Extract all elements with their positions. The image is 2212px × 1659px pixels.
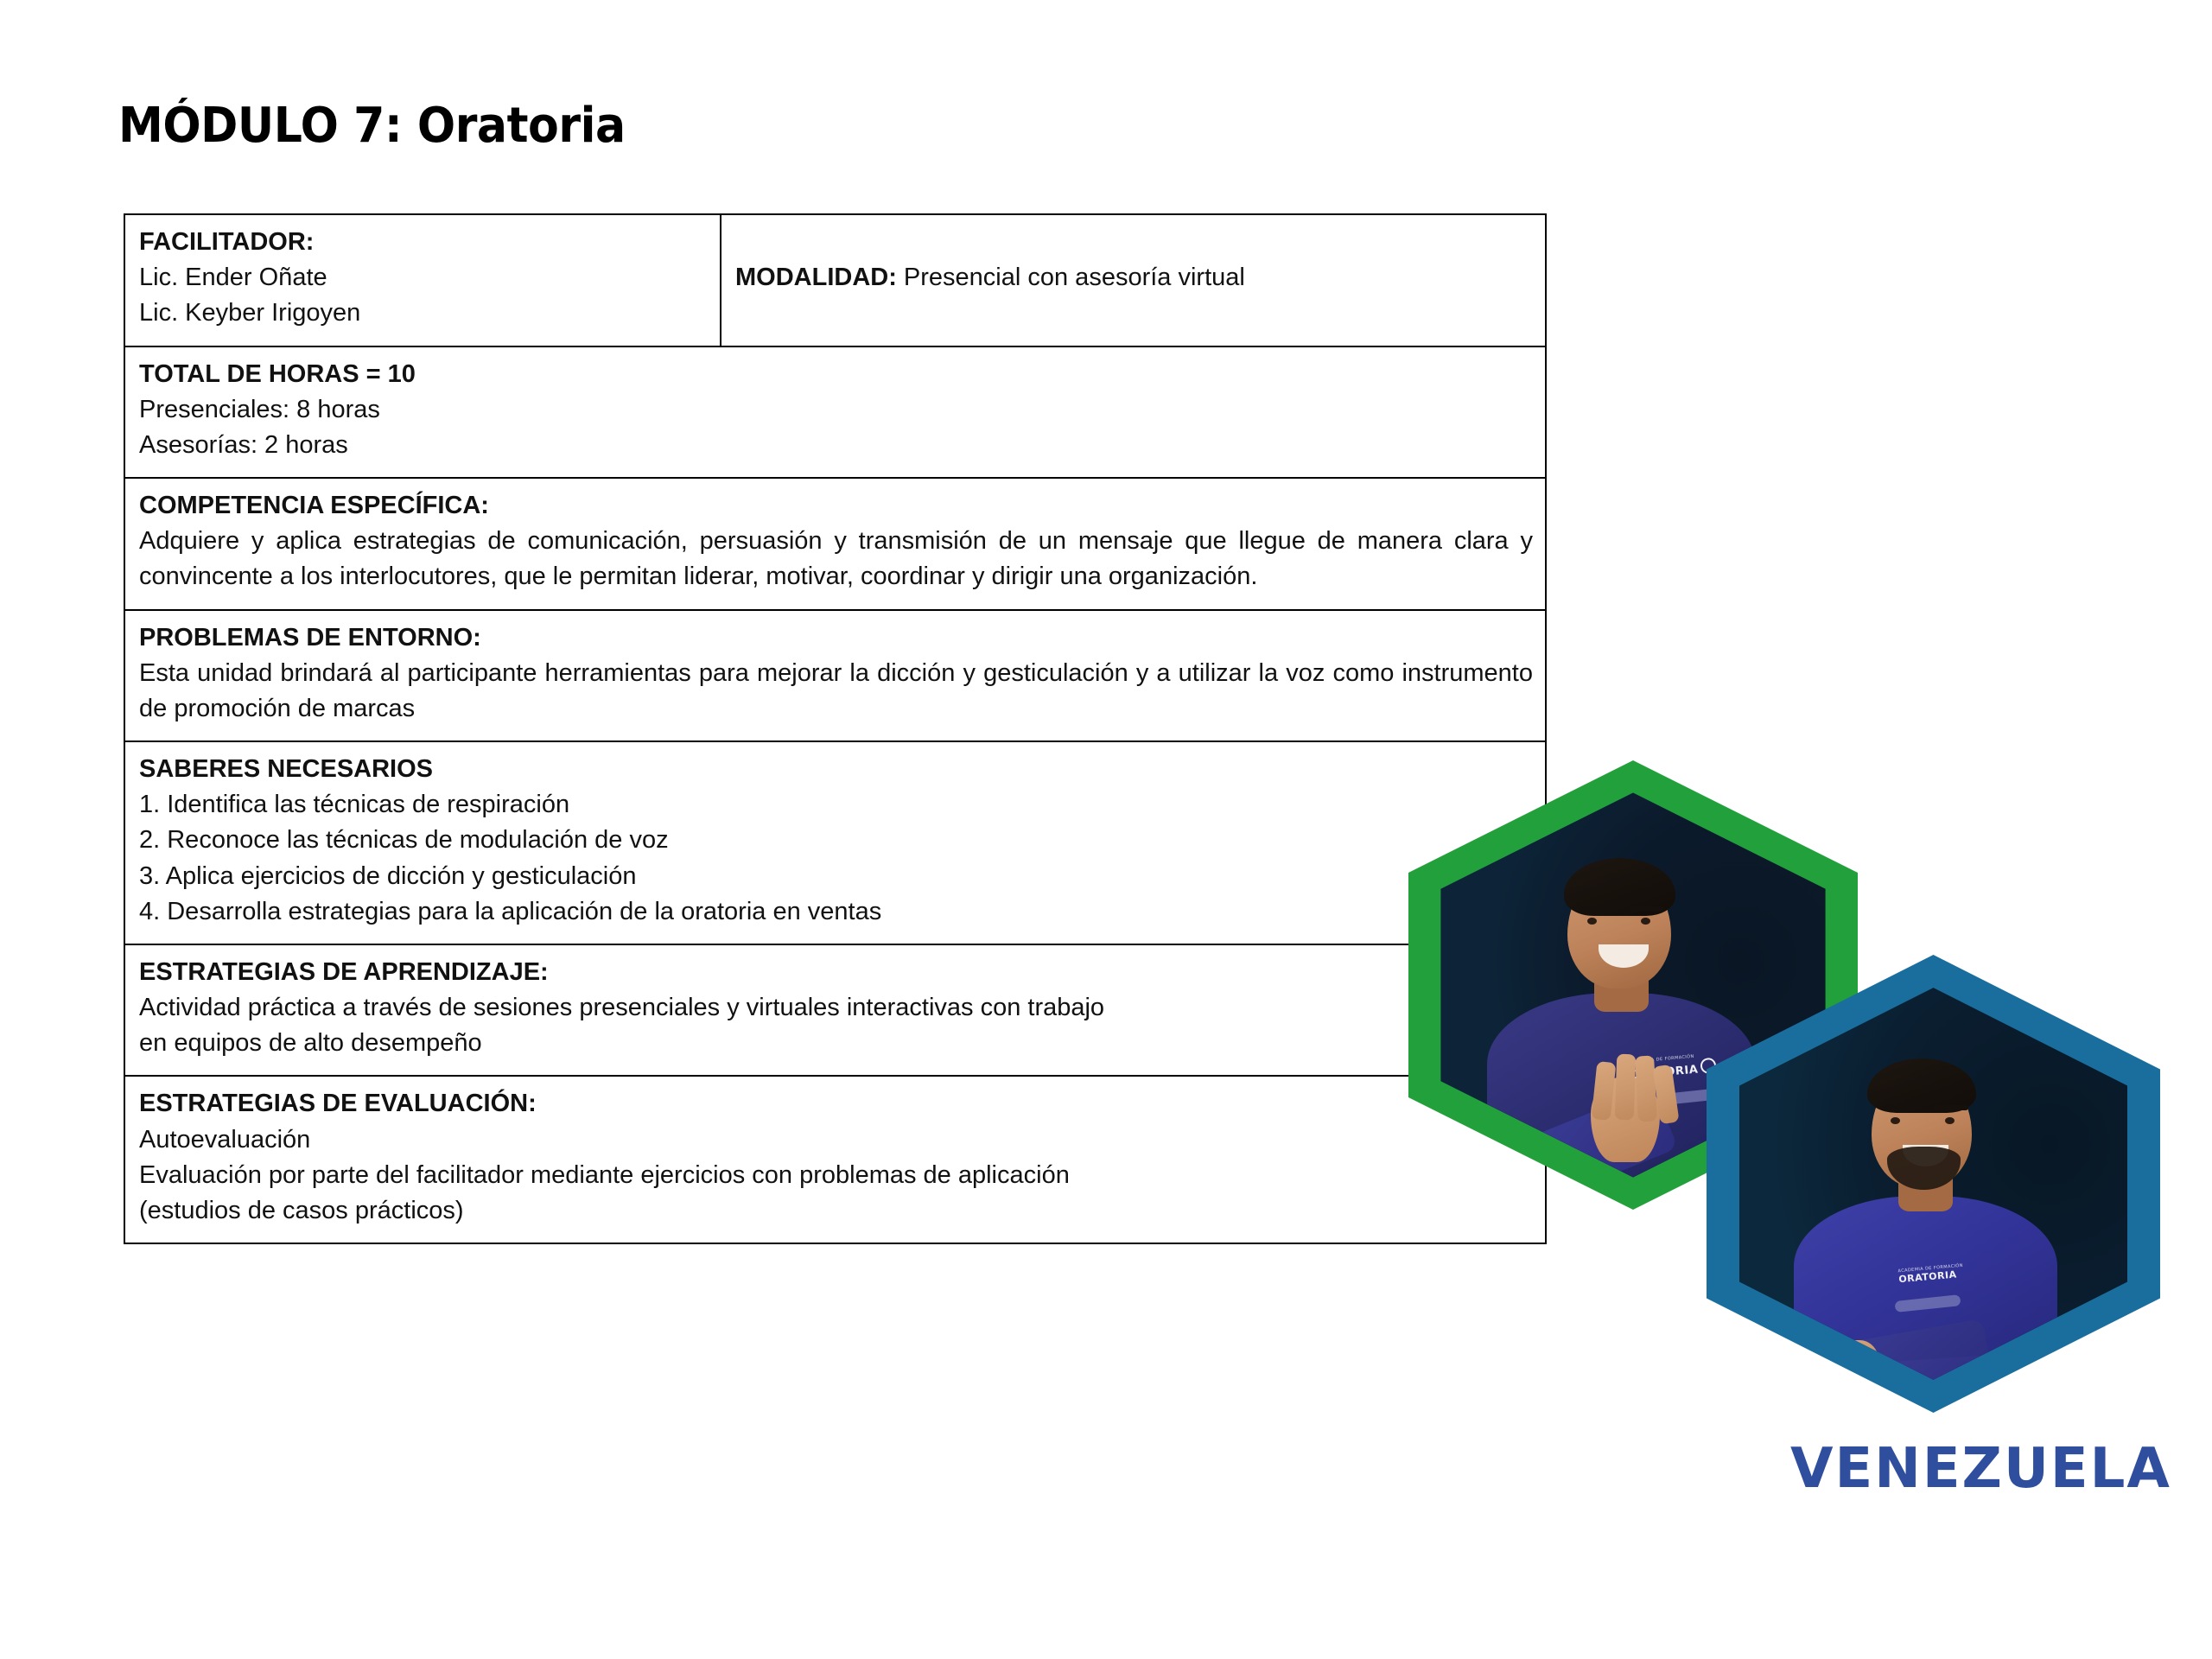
syllabus-table: FACILITADOR: Lic. Ender Oñate Lic. Keybe… [124, 213, 1547, 1244]
saberes-item-2: 2. Reconoce las técnicas de modulación d… [139, 823, 1533, 858]
shirt-logo-badge-icon [1700, 1058, 1717, 1075]
shirt-logo-sub-b: ACADEMIA DE FORMACIÓN [1897, 1263, 1963, 1274]
facilitador-label: FACILITADOR: [139, 225, 708, 260]
cell-aprendizaje: ESTRATEGIAS DE APRENDIZAJE: Actividad pr… [124, 944, 1546, 1077]
table-row-horas: TOTAL DE HORAS = 10 Presenciales: 8 hora… [124, 346, 1546, 479]
page-title: MÓDULO 7: Oratoria [118, 102, 626, 150]
problemas-text: Esta unidad brindará al participante her… [139, 656, 1533, 727]
table-row-facilitador: FACILITADOR: Lic. Ender Oñate Lic. Keybe… [124, 214, 1546, 346]
evaluacion-line-3: (estudios de casos prácticos) [139, 1193, 1533, 1229]
horas-label: TOTAL DE HORAS = 10 [139, 357, 1533, 392]
table-row-saberes: SABERES NECESARIOS 1. Identifica las téc… [124, 741, 1546, 944]
facilitador-name-1: Lic. Ender Oñate [139, 260, 708, 296]
evaluacion-line-1: Autoevaluación [139, 1122, 1533, 1158]
competencia-text: Adquiere y aplica estrategias de comunic… [139, 524, 1533, 594]
aprendizaje-label: ESTRATEGIAS DE APRENDIZAJE: [139, 955, 1533, 990]
cell-competencia: COMPETENCIA ESPECÍFICA: Adquiere y aplic… [124, 478, 1546, 610]
shirt-logo-text-b: ORATORIA [1898, 1269, 1957, 1286]
venezuela-wordmark: VENEZUELA [1790, 1441, 2171, 1497]
cell-problemas: PROBLEMAS DE ENTORNO: Esta unidad brinda… [124, 610, 1546, 742]
table-row-competencia: COMPETENCIA ESPECÍFICA: Adquiere y aplic… [124, 478, 1546, 610]
saberes-item-4: 4. Desarrolla estrategias para la aplica… [139, 894, 1533, 930]
problemas-label: PROBLEMAS DE ENTORNO: [139, 620, 1533, 656]
competencia-label: COMPETENCIA ESPECÍFICA: [139, 488, 1533, 524]
modalidad-value: Presencial con asesoría virtual [897, 264, 1245, 291]
cell-horas: TOTAL DE HORAS = 10 Presenciales: 8 hora… [124, 346, 1546, 479]
cell-modalidad: MODALIDAD: Presencial con asesoría virtu… [721, 214, 1546, 346]
facilitador-name-2: Lic. Keyber Irigoyen [139, 296, 708, 331]
evaluacion-label: ESTRATEGIAS DE EVALUACIÓN: [139, 1086, 1533, 1122]
table-row-aprendizaje: ESTRATEGIAS DE APRENDIZAJE: Actividad pr… [124, 944, 1546, 1077]
modalidad-label: MODALIDAD: [735, 264, 897, 291]
photo-backdrop-b [1739, 988, 2127, 1380]
horas-presenciales: Presenciales: 8 horas [139, 392, 1533, 428]
aprendizaje-line-2: en equipos de alto desempeño [139, 1026, 1533, 1061]
hexagon-blue-photo: ACADEMIA DE FORMACIÓN ORATORIA [1739, 988, 2127, 1380]
saberes-label: SABERES NECESARIOS [139, 752, 1533, 787]
horas-asesorias: Asesorías: 2 horas [139, 428, 1533, 463]
cell-saberes: SABERES NECESARIOS 1. Identifica las téc… [124, 741, 1546, 944]
aprendizaje-line-1: Actividad práctica a través de sesiones … [139, 990, 1533, 1026]
hexagon-blue-frame [1707, 955, 2160, 1413]
hexagon-photo-blue: ACADEMIA DE FORMACIÓN ORATORIA [1707, 955, 2160, 1413]
table-row-problemas: PROBLEMAS DE ENTORNO: Esta unidad brinda… [124, 610, 1546, 742]
person-figure-b: ACADEMIA DE FORMACIÓN ORATORIA [1739, 988, 2127, 1380]
saberes-item-3: 3. Aplica ejercicios de dicción y gestic… [139, 859, 1533, 894]
table-row-evaluacion: ESTRATEGIAS DE EVALUACIÓN: Autoevaluació… [124, 1076, 1546, 1243]
evaluacion-line-2: Evaluación por parte del facilitador med… [139, 1158, 1533, 1193]
saberes-item-1: 1. Identifica las técnicas de respiració… [139, 787, 1533, 823]
cell-facilitador: FACILITADOR: Lic. Ender Oñate Lic. Keybe… [124, 214, 721, 346]
shirt-logo-sub: ACADEMIA DE FORMACIÓN [1629, 1052, 1715, 1065]
shirt-logo-text: ORATORIA [1630, 1064, 1699, 1083]
cell-evaluacion: ESTRATEGIAS DE EVALUACIÓN: Autoevaluació… [124, 1076, 1546, 1243]
